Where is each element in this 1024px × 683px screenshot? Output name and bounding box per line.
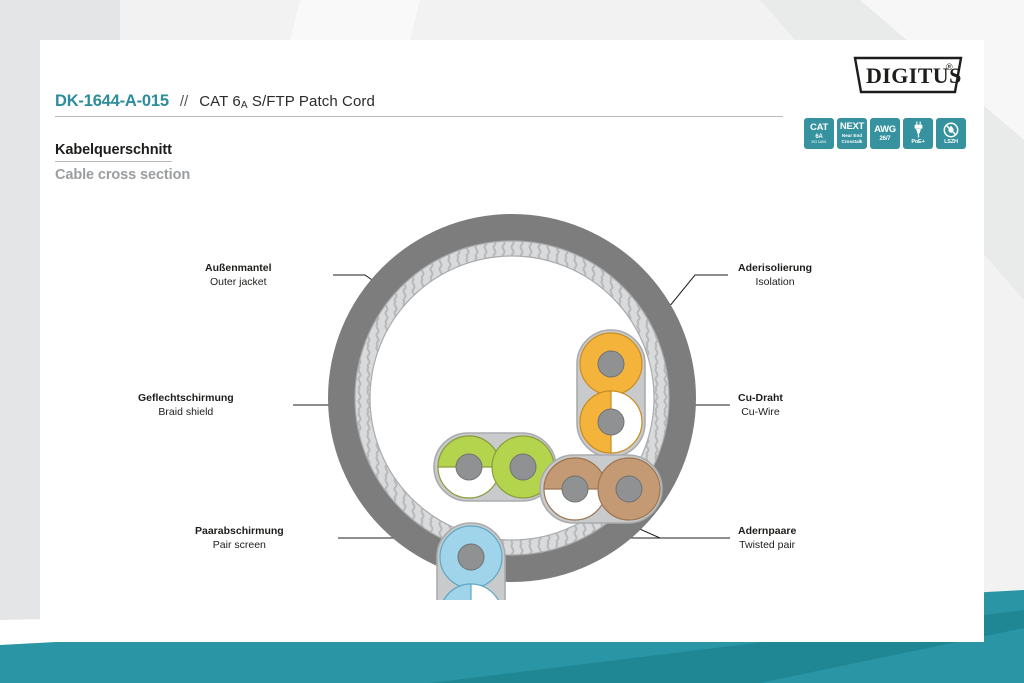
orange-pair: [577, 330, 645, 457]
lszh-badge: LSZH: [936, 118, 966, 149]
poe-badge-label: PoE+: [911, 140, 924, 146]
green-wire-striped: [438, 436, 500, 498]
next-badge-line2: Crosstalk: [842, 139, 863, 145]
brown-wire-striped: [544, 458, 606, 520]
callout-twisted-pair-de: Adernpaare: [738, 525, 796, 539]
digitus-logo: DIGITUS ®: [851, 54, 966, 96]
lszh-badge-label: LSZH: [944, 140, 958, 146]
green-wire-solid-copper: [510, 454, 536, 480]
feature-badges: CAT 6A ISO 11801 NEXT Near End Crosstalk…: [804, 118, 966, 149]
section-title-de: Kabelquerschnitt: [55, 142, 172, 162]
poe-badge: PoE+: [903, 118, 933, 149]
callout-pair-screen-de: Paarabschirmung: [195, 525, 284, 539]
product-name: CAT 6A S/FTP Patch Cord: [199, 93, 375, 110]
callout-outer-jacket-de: Außenmantel: [205, 262, 272, 276]
callout-isolation: Aderisolierung Isolation: [738, 262, 812, 290]
awg-badge-sub: 26/7: [880, 136, 891, 142]
brown-wire-solid: [598, 458, 660, 520]
product-name-rest: S/FTP Patch Cord: [248, 93, 375, 110]
callout-outer-jacket-en: Outer jacket: [205, 276, 272, 290]
cat-badge: CAT 6A ISO 11801: [804, 118, 834, 149]
cat-badge-title: CAT: [810, 123, 828, 133]
no-flame-icon: [943, 122, 959, 138]
callout-isolation-de: Aderisolierung: [738, 262, 812, 276]
brown-wire-striped-copper: [562, 476, 588, 502]
next-badge: NEXT Near End Crosstalk: [837, 118, 867, 149]
product-sku: DK-1644-A-015: [55, 92, 169, 111]
content-card: DIGITUS ® DK-1644-A-015 // CAT 6A S/FTP …: [40, 40, 984, 642]
callout-outer-jacket: Außenmantel Outer jacket: [205, 262, 272, 290]
awg-badge: AWG 26/7: [870, 118, 900, 149]
callout-isolation-en: Isolation: [738, 276, 812, 290]
callout-braid-shield: Geflechtschirmung Braid shield: [138, 392, 234, 420]
cat-badge-standard: ISO 11801: [811, 141, 826, 144]
orange-wire-striped: [580, 391, 642, 453]
orange-wire-striped-copper: [598, 409, 624, 435]
orange-wire-solid-copper: [598, 351, 624, 377]
product-title-line: DK-1644-A-015 // CAT 6A S/FTP Patch Cord: [55, 92, 783, 117]
cable-diagram-svg: [40, 170, 984, 600]
callout-twisted-pair-en: Twisted pair: [738, 539, 796, 553]
orange-wire-solid: [580, 333, 642, 395]
callout-braid-shield-de: Geflechtschirmung: [138, 392, 234, 406]
awg-badge-title: AWG: [874, 125, 896, 135]
product-name-main: CAT 6: [199, 93, 241, 110]
cat-badge-sub: 6A: [815, 134, 822, 140]
next-badge-line1: Near End: [842, 133, 862, 139]
callout-braid-shield-en: Braid shield: [138, 406, 234, 420]
brown-pair: [540, 455, 662, 523]
plug-icon: [912, 121, 925, 138]
blue-wire-solid: [440, 526, 502, 588]
callout-pair-screen-en: Pair screen: [195, 539, 284, 553]
cable-cross-section-diagram: Außenmantel Outer jacket Geflechtschirmu…: [40, 170, 984, 600]
blue-pair: [437, 523, 505, 600]
blue-wire-solid-copper: [458, 544, 484, 570]
green-wire-striped-copper: [456, 454, 482, 480]
product-name-subscript: A: [241, 100, 248, 111]
next-badge-title: NEXT: [840, 122, 864, 132]
callout-twisted-pair: Adernpaare Twisted pair: [738, 525, 796, 553]
logo-trademark-icon: ®: [946, 62, 953, 72]
callout-cu-wire: Cu-Draht Cu-Wire: [738, 392, 783, 420]
callout-pair-screen: Paarabschirmung Pair screen: [195, 525, 284, 553]
green-pair: [434, 433, 556, 501]
title-separator: //: [180, 93, 188, 110]
header: DK-1644-A-015 // CAT 6A S/FTP Patch Cord: [55, 92, 790, 117]
callout-cu-wire-en: Cu-Wire: [738, 406, 783, 420]
callout-cu-wire-de: Cu-Draht: [738, 392, 783, 406]
brown-wire-solid-copper: [616, 476, 642, 502]
